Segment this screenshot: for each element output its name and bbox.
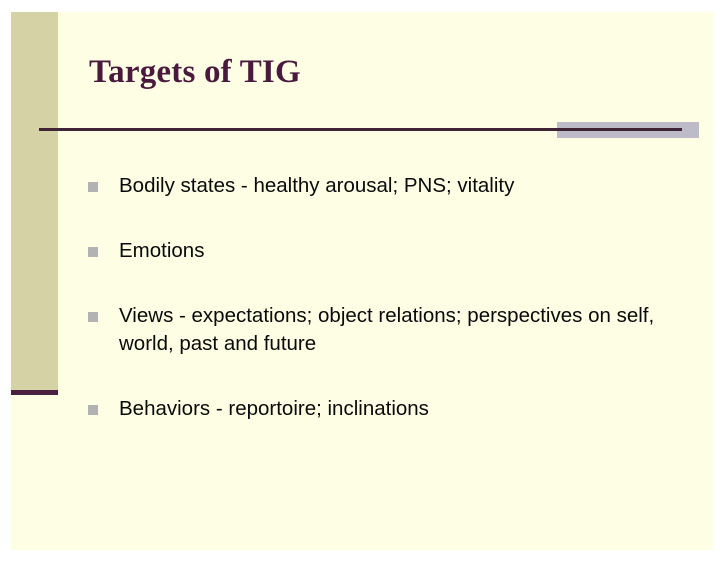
bullet-list: Bodily states - healthy arousal; PNS; vi… xyxy=(87,172,687,423)
list-item-label: Behaviors - reportoire; inclinations xyxy=(119,395,687,423)
left-decorative-bar xyxy=(11,12,58,390)
list-item: Views - expectations; object relations; … xyxy=(87,302,687,358)
title-divider-line xyxy=(39,128,682,131)
list-item-label: Emotions xyxy=(119,237,687,265)
slide-canvas: Targets of TIG Bodily states - healthy a… xyxy=(11,12,713,550)
slide-title: Targets of TIG xyxy=(89,52,669,92)
square-bullet-icon xyxy=(88,182,98,192)
list-item: Emotions xyxy=(87,237,687,265)
list-item: Bodily states - healthy arousal; PNS; vi… xyxy=(87,172,687,200)
square-bullet-icon xyxy=(88,312,98,322)
title-divider xyxy=(39,120,699,140)
left-decorative-bar-accent xyxy=(11,390,58,395)
square-bullet-icon xyxy=(88,247,98,257)
list-item: Behaviors - reportoire; inclinations xyxy=(87,395,687,423)
square-bullet-icon xyxy=(88,405,98,415)
list-item-label: Views - expectations; object relations; … xyxy=(119,302,687,358)
list-item-label: Bodily states - healthy arousal; PNS; vi… xyxy=(119,172,687,200)
